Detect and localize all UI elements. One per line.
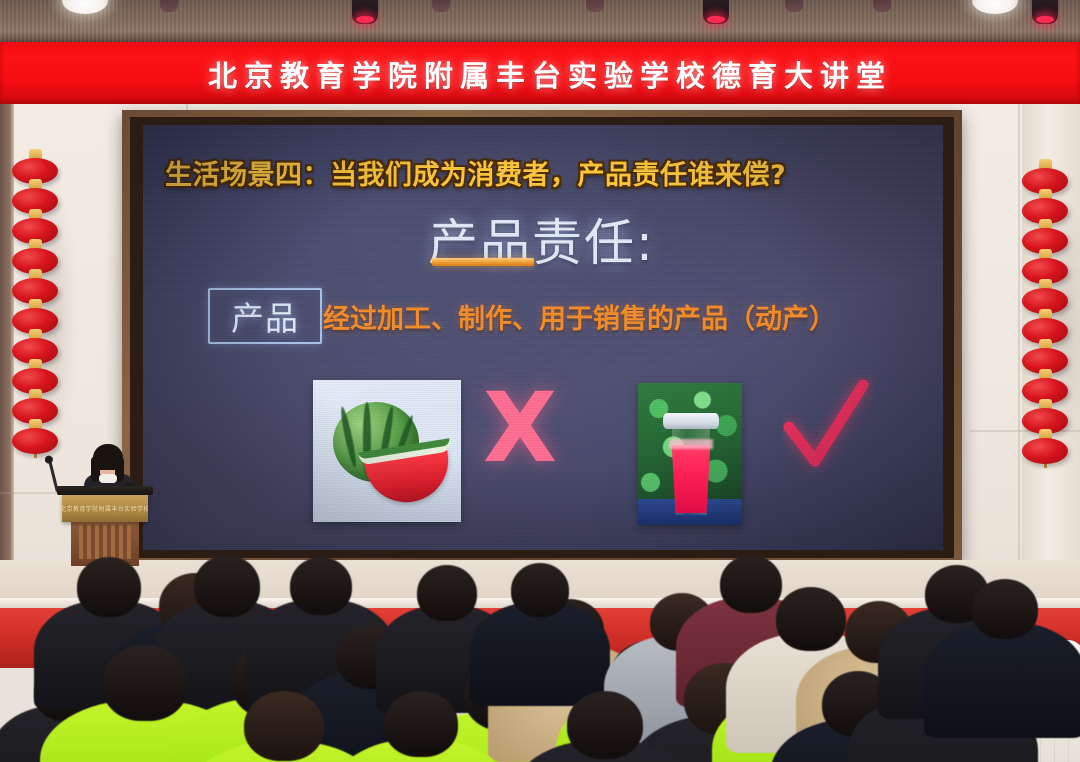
audience-shoulders — [924, 622, 1080, 738]
term-definition: 经过加工、制作、用于销售的产品（动产） — [323, 297, 836, 336]
speaker-scarf — [99, 474, 117, 483]
audience-member — [924, 579, 1080, 755]
cup-foam — [669, 439, 713, 449]
ceiling-spotlight-icon — [873, 0, 891, 12]
ceiling-spotlight-icon — [703, 0, 729, 24]
ceiling-spotlight-icon — [785, 0, 803, 12]
podium-plaque-text: 北京教育学院附属丰台实验学校 — [62, 504, 148, 513]
check-mark-icon — [783, 375, 875, 491]
watermelon-juice-photo — [638, 383, 742, 525]
ceiling-spotlight-icon — [352, 0, 378, 24]
audience-head — [567, 691, 643, 759]
audience-member — [330, 691, 512, 762]
audience-member — [512, 691, 698, 762]
event-banner: 北京教育学院附属丰台实验学校德育大讲堂 — [0, 42, 1080, 106]
watermelon-slice-icon — [364, 448, 454, 509]
audience-head — [290, 557, 352, 615]
audience-head — [384, 691, 458, 757]
watermelon-photo — [313, 380, 461, 522]
lantern-icon — [12, 428, 58, 454]
lantern-string-left — [8, 158, 62, 458]
lantern-string-right — [1018, 168, 1072, 468]
ceiling-spotlight-icon — [1032, 0, 1058, 24]
auditorium-scene: 北京教育学院附属丰台实验学校德育大讲堂 生活场景四：当我们成为消费者，产品责任谁… — [0, 0, 1080, 762]
ceiling-spotlight-icon — [160, 0, 178, 12]
ceiling-spotlight-icon — [586, 0, 604, 12]
audience-head — [972, 579, 1038, 639]
presentation-screen[interactable]: 生活场景四：当我们成为消费者，产品责任谁来偿? 产品责任: 产品 经过加工、制作… — [143, 125, 943, 550]
term-box: 产品 — [208, 288, 322, 344]
slide-title: 生活场景四：当我们成为消费者，产品责任谁来偿? — [165, 153, 786, 192]
cross-mark-icon: X — [483, 380, 557, 476]
audience-head — [417, 565, 477, 621]
heading-underline — [432, 258, 534, 266]
ceiling-spotlight-icon — [432, 0, 450, 12]
audience-head — [244, 691, 324, 761]
term-box-label: 产品 — [231, 292, 299, 340]
lantern-icon — [1022, 438, 1068, 464]
cup-lid — [663, 413, 719, 429]
banner-title: 北京教育学院附属丰台实验学校德育大讲堂 — [208, 53, 892, 95]
podium-plaque: 北京教育学院附属丰台实验学校 — [62, 494, 148, 522]
podium-top — [57, 486, 153, 495]
audience-head — [511, 563, 569, 617]
cup-liquid — [669, 445, 713, 513]
audience — [0, 545, 1080, 762]
